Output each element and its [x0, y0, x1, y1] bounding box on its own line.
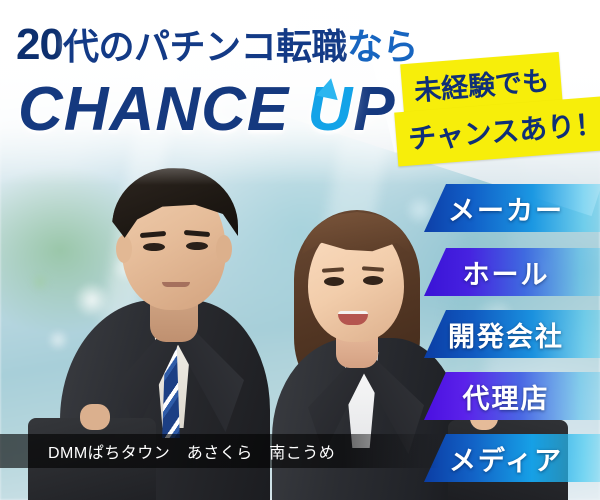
- man-eye-right: [186, 242, 208, 250]
- category-label-media: メディア: [449, 439, 585, 478]
- category-bar-maker[interactable]: メーカー: [424, 184, 600, 232]
- caption-bar: DMMぱちタウン あさくら 南こうめ: [0, 434, 440, 468]
- hand-left: [80, 404, 110, 430]
- man-mouth: [162, 282, 190, 287]
- headline-number: 20: [16, 20, 63, 69]
- category-bar-media[interactable]: メディア: [424, 434, 600, 482]
- page-title: 20代のパチンコ転職なら: [16, 18, 418, 70]
- category-label-development-company: 開発会社: [448, 315, 586, 354]
- arrow-up-icon: [316, 76, 342, 100]
- category-bar-hall[interactable]: ホール: [424, 248, 600, 296]
- category-label-maker: メーカー: [448, 189, 586, 228]
- man-eye-left: [143, 243, 165, 251]
- category-bar-agency[interactable]: 代理店: [424, 372, 600, 420]
- woman-mouth: [338, 311, 368, 325]
- headline-suffix: なら: [347, 26, 418, 67]
- man-ear-left: [116, 235, 132, 263]
- category-bar-development-company[interactable]: 開発会社: [424, 310, 600, 358]
- caption-text: DMMぱちタウン あさくら 南こうめ: [0, 439, 335, 463]
- logo-chance: CHANCE: [18, 75, 289, 144]
- category-label-agency: 代理店: [463, 377, 572, 416]
- category-label-hall: ホール: [463, 253, 572, 292]
- man-ear-right: [216, 235, 232, 263]
- banner-advertisement[interactable]: 20代のパチンコ転職なら CHANCE UP 未経験でも チャンスあり！ メーカ…: [0, 0, 600, 500]
- logo-up-p: P: [353, 75, 395, 144]
- headline-main: 代のパチンコ転職: [63, 26, 347, 67]
- woman-eye-right: [363, 276, 383, 285]
- woman-eye-left: [324, 277, 344, 286]
